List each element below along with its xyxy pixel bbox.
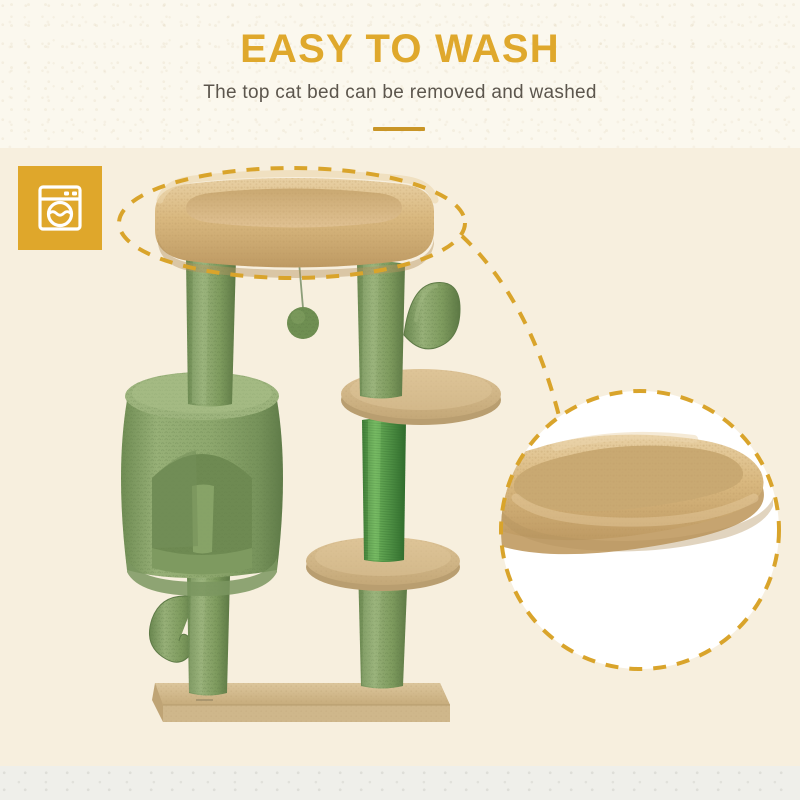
right-column [306, 262, 501, 689]
detached-cat-bed [461, 435, 773, 554]
upper-left-plush-post [186, 256, 236, 407]
product-illustration [0, 0, 800, 800]
zoom-callout-circle [461, 391, 779, 669]
zoom-circle-content [461, 435, 773, 554]
product-feature-banner: EASY TO WASH The top cat bed can be remo… [0, 0, 800, 800]
